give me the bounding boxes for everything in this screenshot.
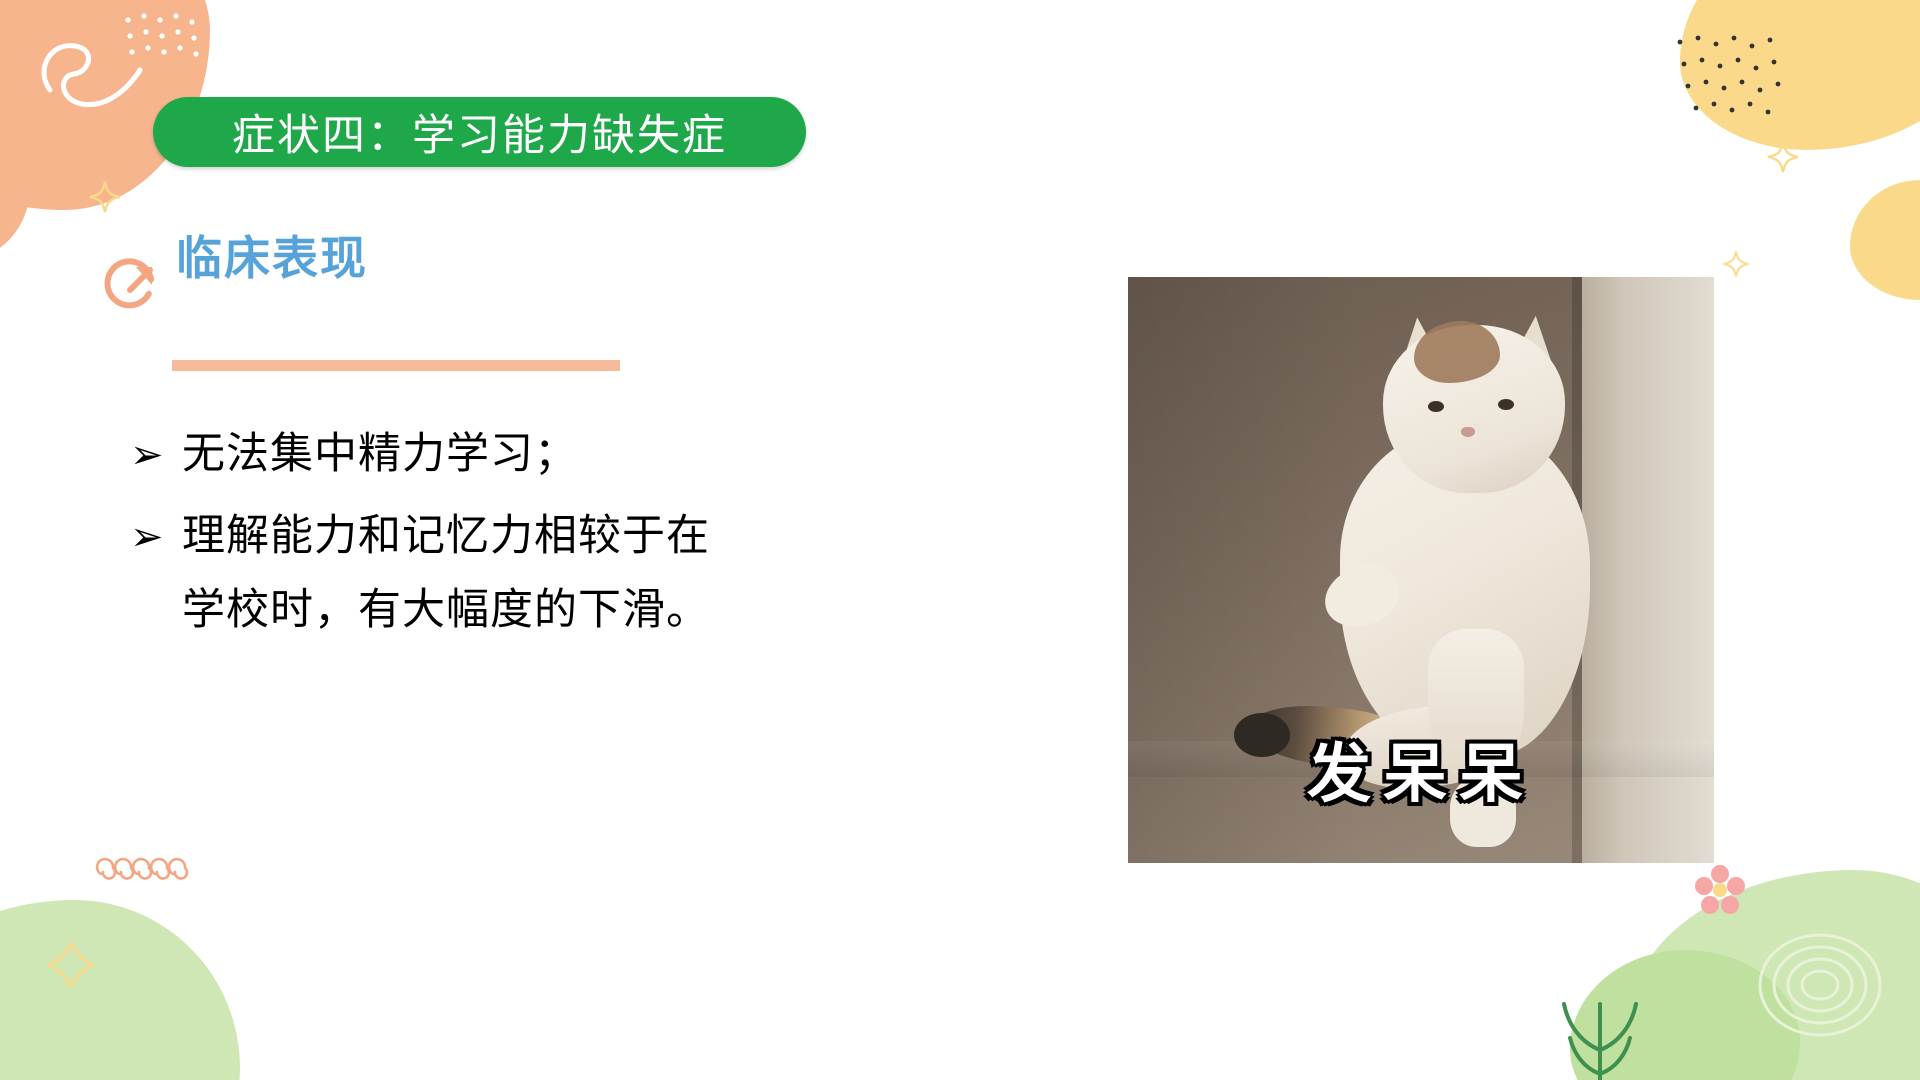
list-item-text-line-2: 学校时，有大幅度的下滑。 xyxy=(182,574,710,648)
decorative-blob-bottom-right xyxy=(1630,870,1920,1080)
section-heading-group: 临床表现 xyxy=(100,235,368,311)
dot-pattern-top-right xyxy=(1670,30,1800,130)
bullet-marker-icon: ➢ xyxy=(130,500,182,574)
spiral-pattern-bottom-left xyxy=(95,840,205,890)
decorative-blob-top-right-secondary xyxy=(1850,180,1920,300)
cat-eye-left xyxy=(1428,401,1444,412)
decorative-blob-bottom-left xyxy=(0,900,240,1080)
leaf-sprig-icon-bottom-right xyxy=(1530,950,1670,1080)
list-item-text-line-1: 理解能力和记忆力相较于在 xyxy=(182,500,710,574)
dot-pattern-top-left xyxy=(120,10,210,80)
clinical-manifestation-list: ➢ 无法集中精力学习； ➢ 理解能力和记忆力相较于在 学校时，有大幅度的下滑。 xyxy=(130,418,850,656)
section-heading-label: 临床表现 xyxy=(176,235,368,283)
concentric-rings-icon-bottom-right xyxy=(1740,910,1900,1060)
decorative-blob-top-left-secondary xyxy=(0,120,30,260)
decorative-blob-bottom-right-secondary xyxy=(1570,950,1800,1080)
star-sparkle-icon-top-right xyxy=(1766,140,1800,174)
list-item-text: 无法集中精力学习； xyxy=(182,418,578,492)
photo-caption: 发呆呆 xyxy=(1128,723,1714,815)
list-item: ➢ 无法集中精力学习； xyxy=(130,418,850,492)
cat-eye-right xyxy=(1498,399,1514,410)
flower-icon-bottom-right xyxy=(1690,860,1750,920)
bullet-marker-icon: ➢ xyxy=(130,418,182,492)
refresh-arrow-icon xyxy=(100,249,162,311)
squiggle-icon-top-left xyxy=(30,30,160,120)
cat-photo: 发呆呆 xyxy=(1128,277,1714,863)
star-sparkle-icon-left xyxy=(88,180,122,214)
slide-canvas: 症状四：学习能力缺失症 临床表现 ➢ 无法集中精力学习； ➢ 理解能力和记忆力相… xyxy=(0,0,1920,1080)
page-title: 症状四：学习能力缺失症 xyxy=(232,101,727,163)
list-item: ➢ 理解能力和记忆力相较于在 学校时，有大幅度的下滑。 xyxy=(130,500,850,648)
star-sparkle-icon-right xyxy=(1722,250,1750,278)
slide-title-pill: 症状四：学习能力缺失症 xyxy=(153,97,806,167)
cat-nose xyxy=(1461,427,1475,437)
list-item-text-block: 理解能力和记忆力相较于在 学校时，有大幅度的下滑。 xyxy=(182,500,710,648)
decorative-blob-top-right xyxy=(1680,0,1920,150)
flower-icon-bottom-left xyxy=(46,940,96,990)
section-heading-underline xyxy=(172,360,620,371)
